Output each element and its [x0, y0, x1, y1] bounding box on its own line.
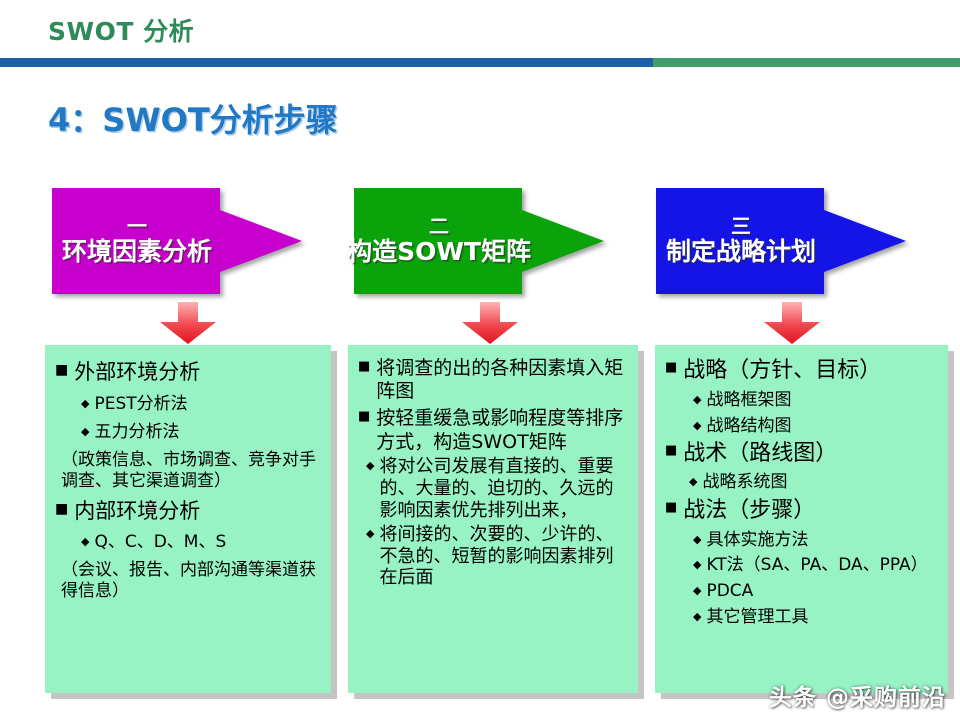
- bullet-diamond-icon: ◆: [693, 607, 701, 626]
- bullet-square-icon: ■: [358, 357, 370, 377]
- list-item: ■ 外部环境分析: [55, 360, 321, 386]
- arrow-right-shape-icon: [656, 188, 906, 294]
- bullet-square-icon: ■: [665, 498, 677, 518]
- list-item-label: KT法（SA、PA、DA、PPA）: [706, 555, 938, 576]
- list-item-label: 内部环境分析: [74, 499, 321, 525]
- arrow-down-icon-3: [763, 302, 821, 344]
- list-item-label: 外部环境分析: [74, 360, 321, 386]
- bullet-diamond-icon: ◆: [693, 530, 701, 549]
- content-box-2: ■ 将调查的出的各种因素填入矩阵图 ■ 按轻重缓急或影响程度等排序方式，构造SW…: [348, 345, 638, 693]
- bullet-diamond-icon: ◆: [693, 581, 701, 600]
- list-item-label: PEST分析法: [94, 394, 321, 415]
- watermark: 头条 @采购前沿: [769, 678, 946, 712]
- list-item-label: （会议、报告、内部沟通等渠道获得信息）: [61, 560, 321, 601]
- list-item-label: PDCA: [706, 581, 938, 602]
- content-box-1: ■ 外部环境分析 ◆ PEST分析法 ◆ 五力分析法 （政策信息、市场调查、竞争…: [45, 345, 331, 693]
- list-item-label: Q、C、D、M、S: [94, 532, 321, 553]
- list-item: ■ 内部环境分析: [55, 499, 321, 525]
- slide-header: SWOT 分析: [0, 0, 960, 72]
- slide-title: 4：SWOT分析步骤: [48, 95, 338, 141]
- content-box-3: ■ 战略（方针、目标） ◆ 战略框架图 ◆ 战略结构图 ■ 战术（路线图） ◆ …: [655, 345, 948, 693]
- list-item: （会议、报告、内部沟通等渠道获得信息）: [55, 560, 321, 601]
- list-item: ■ 将调查的出的各种因素填入矩阵图: [358, 357, 628, 403]
- list-item-label: 具体实施方法: [706, 530, 938, 551]
- list-item: ■ 按轻重缓急或影响程度等排序方式，构造SWOT矩阵: [358, 407, 628, 453]
- list-item: ■ 战法（步骤）: [665, 498, 938, 525]
- step-banner-1[interactable]: 一 环境因素分析: [52, 188, 302, 294]
- bullet-square-icon: ■: [665, 358, 677, 378]
- list-item-label: 将对公司发展有直接的、重要的、大量的、迫切的、久远的影响因素优先排列出来，: [379, 456, 628, 522]
- list-item: ◆ 将对公司发展有直接的、重要的、大量的、迫切的、久远的影响因素优先排列出来，: [358, 456, 628, 522]
- list-item: ■ 战略（方针、目标）: [665, 358, 938, 385]
- list-item: ◆ 五力分析法: [55, 422, 321, 443]
- list-item: ◆ 其它管理工具: [665, 607, 938, 628]
- list-item-label: （政策信息、市场调查、竞争对手调查、其它渠道调查）: [61, 450, 321, 491]
- list-item-label: 战略结构图: [706, 416, 938, 437]
- arrow-down-icon-1: [159, 302, 217, 344]
- bullet-diamond-icon: ◆: [81, 422, 89, 441]
- list-item: ◆ KT法（SA、PA、DA、PPA）: [665, 555, 938, 576]
- bullet-diamond-icon: ◆: [81, 532, 89, 551]
- step-banner-row: 一 环境因素分析 二 构造SOWT矩阵 三 制定战略计划: [0, 188, 960, 298]
- list-item: ◆ PDCA: [665, 581, 938, 602]
- header-divider: [0, 58, 960, 67]
- list-item-label: 战略（方针、目标）: [683, 358, 938, 385]
- header-divider-green-segment: [653, 58, 960, 67]
- bullet-diamond-icon: ◆: [81, 394, 89, 413]
- bullet-diamond-icon: ◆: [689, 472, 697, 491]
- list-item-label: 战法（步骤）: [683, 498, 938, 525]
- step-banner-2[interactable]: 二 构造SOWT矩阵: [354, 188, 604, 294]
- list-item-label: 五力分析法: [94, 422, 321, 443]
- bullet-diamond-icon: ◆: [693, 416, 701, 435]
- list-item-label: 战略系统图: [702, 472, 938, 493]
- bullet-square-icon: ■: [665, 441, 677, 461]
- list-item: ■ 战术（路线图）: [665, 441, 938, 468]
- bullet-diamond-icon: ◆: [693, 555, 701, 574]
- list-item-label: 将调查的出的各种因素填入矩阵图: [376, 357, 628, 403]
- list-item-label: 按轻重缓急或影响程度等排序方式，构造SWOT矩阵: [376, 407, 628, 453]
- list-item-label: 其它管理工具: [706, 607, 938, 628]
- bullet-square-icon: ■: [55, 499, 68, 521]
- arrow-right-shape-icon: [52, 188, 302, 294]
- list-item-label: 将间接的、次要的、少许的、不急的、短暂的影响因素排列在后面: [379, 524, 628, 590]
- bullet-diamond-icon: ◆: [693, 390, 701, 409]
- page-title: SWOT 分析: [48, 12, 194, 48]
- list-item-label: 战略框架图: [706, 390, 938, 411]
- list-item: ◆ PEST分析法: [55, 394, 321, 415]
- bullet-square-icon: ■: [358, 407, 370, 427]
- bullet-diamond-icon: ◆: [366, 456, 374, 475]
- arrow-down-icon-2: [461, 302, 519, 344]
- list-item: （政策信息、市场调查、竞争对手调查、其它渠道调查）: [55, 450, 321, 491]
- list-item: ◆ 战略系统图: [665, 472, 938, 493]
- arrow-right-shape-icon: [354, 188, 604, 294]
- list-item: ◆ 将间接的、次要的、少许的、不急的、短暂的影响因素排列在后面: [358, 524, 628, 590]
- bullet-square-icon: ■: [55, 360, 68, 382]
- list-item: ◆ 战略框架图: [665, 390, 938, 411]
- bullet-diamond-icon: ◆: [366, 524, 374, 543]
- list-item: ◆ 具体实施方法: [665, 530, 938, 551]
- step-banner-3[interactable]: 三 制定战略计划: [656, 188, 906, 294]
- list-item-label: 战术（路线图）: [683, 441, 938, 468]
- list-item: ◆ 战略结构图: [665, 416, 938, 437]
- list-item: ◆ Q、C、D、M、S: [55, 532, 321, 553]
- header-divider-blue-segment: [0, 58, 653, 67]
